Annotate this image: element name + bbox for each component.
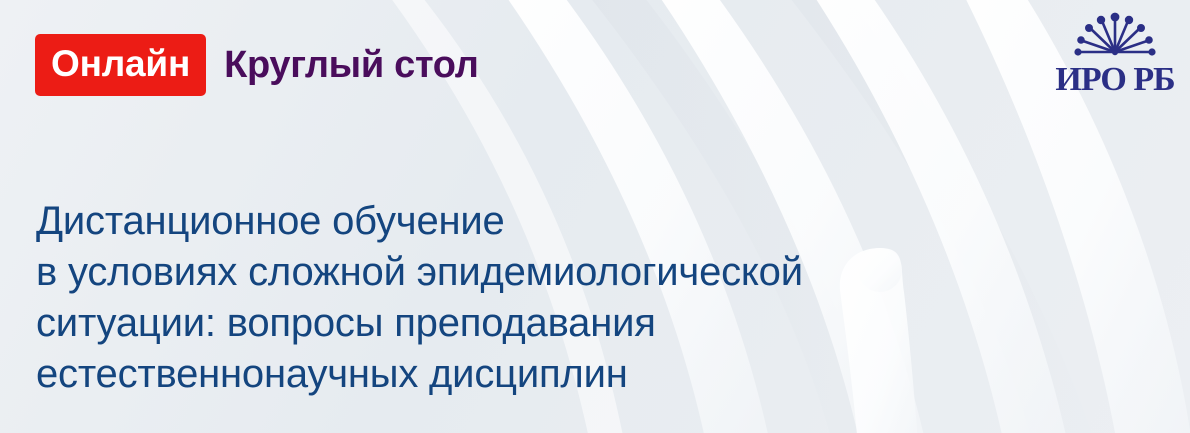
status-badge-online: Онлайн: [35, 34, 206, 96]
starburst-dandelion-icon: [1074, 13, 1155, 56]
iro-rb-logo: ИРО РБ: [1054, 10, 1176, 96]
arc-band-1-cap: [858, 248, 902, 292]
page-title: Дистанционное обучение в условиях сложно…: [36, 196, 803, 400]
banner-header: Онлайн Круглый стол: [35, 34, 479, 96]
title-line-4: естественнонаучных дисциплин: [36, 349, 803, 400]
title-line-3: ситуации: вопросы преподавания: [36, 298, 803, 349]
title-line-2: в условиях сложной эпидемиологической: [36, 247, 803, 298]
arc-band-1: [840, 248, 920, 433]
arc-band-4: [790, 0, 1074, 433]
title-line-1: Дистанционное обучение: [36, 196, 803, 247]
online-round-table-banner: Онлайн Круглый стол Дистанционное обучен…: [0, 0, 1190, 433]
event-type-label: Круглый стол: [224, 44, 478, 87]
logo-wordmark: ИРО РБ: [1055, 61, 1174, 96]
